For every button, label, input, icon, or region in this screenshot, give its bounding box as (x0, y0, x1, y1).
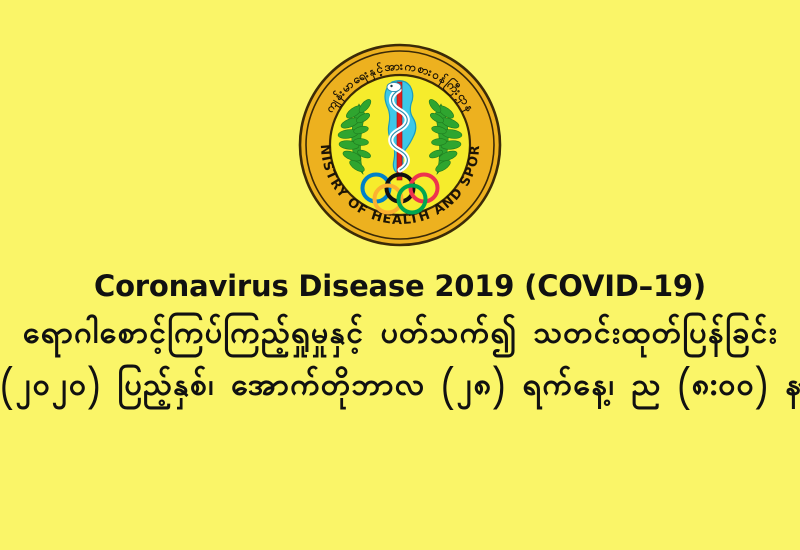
burmese-datetime-line: (၂၀၂၀) ပြည့်နှစ်၊ အောက်တိုဘာလ (၂၈) ရက်နေ… (0, 363, 800, 411)
press-release-page: ကျန်းမာရေးနှင့်အားကစားဝန်ကြီးဌာန MINISTR… (0, 0, 800, 550)
emblem-container: ကျန်းမာရေးနှင့်အားကစားဝန်ကြီးဌာန MINISTR… (0, 42, 800, 248)
burmese-line-2-row: (၂၀၂၀) ပြည့်နှစ်၊ အောက်တိုဘာလ (၂၈) ရက်နေ… (0, 359, 800, 411)
ministry-of-health-and-sports-seal-icon: ကျန်းမာရေးနှင့်အားကစားဝန်ကြီးဌာန MINISTR… (297, 42, 503, 248)
title-row: Coronavirus Disease 2019 (COVID–19) (0, 272, 800, 301)
announcement-text-block: Coronavirus Disease 2019 (COVID–19) ရောဂ… (0, 272, 800, 411)
burmese-subject-line: ရောဂါစောင့်ကြပ်ကြည့်ရှုမှုနှင့် ပတ်သက်၍ … (0, 311, 800, 359)
page-title: Coronavirus Disease 2019 (COVID–19) (0, 272, 800, 301)
burmese-line-1-row: ရောဂါစောင့်ကြပ်ကြည့်ရှုမှုနှင့် ပတ်သက်၍ … (0, 301, 800, 359)
